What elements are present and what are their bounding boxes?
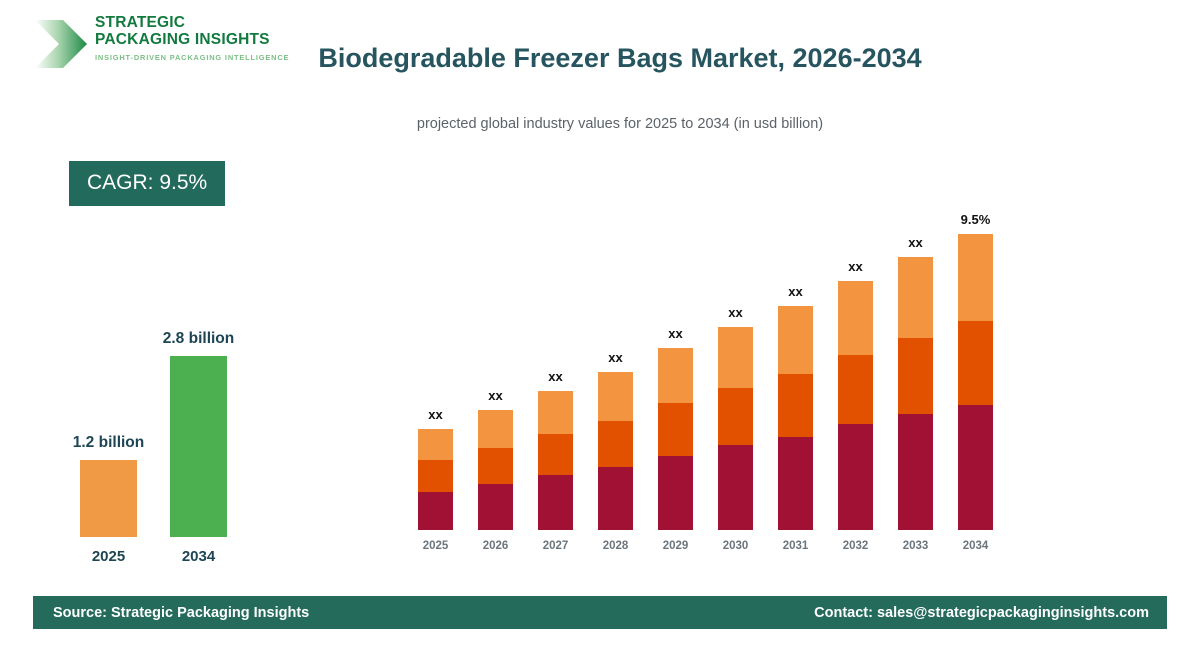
stacked-segment-segment-1-2032 [838, 424, 873, 530]
yearly-stacked-projection-chart: xx2025xx2026xx2027xx2028xx2029xx2030xx20… [408, 195, 1008, 555]
stacked-bar-2027: xx2027 [538, 391, 573, 530]
bar-2025: 1.2 billion2025 [80, 460, 137, 537]
stacked-segment-segment-3-2026 [478, 410, 513, 448]
stacked-segment-segment-1-2028 [598, 467, 633, 530]
stacked-segment-segment-2-2027 [538, 434, 573, 475]
stacked-segment-segment-2-2034 [958, 321, 993, 406]
stacked-segment-segment-3-2031 [778, 306, 813, 374]
stacked-segment-segment-1-2026 [478, 484, 513, 530]
stacked-bar-2030: xx2030 [718, 327, 753, 530]
stacked-bar-top-label-2032: xx [848, 259, 862, 274]
stacked-bar-top-label-2029: xx [668, 326, 682, 341]
page-title: Biodegradable Freezer Bags Market, 2026-… [300, 40, 940, 77]
stacked-bar-year-label-2031: 2031 [783, 540, 809, 552]
stacked-segment-segment-2-2033 [898, 338, 933, 414]
stacked-segment-segment-3-2029 [658, 348, 693, 403]
footer-bar: Source: Strategic Packaging Insights Con… [33, 596, 1167, 629]
footer-source: Source: Strategic Packaging Insights [53, 605, 309, 621]
stacked-segment-segment-3-2033 [898, 257, 933, 337]
stacked-bar-top-label-2033: xx [908, 235, 922, 250]
stacked-segment-segment-3-2027 [538, 391, 573, 434]
stacked-segment-segment-1-2030 [718, 445, 753, 530]
stacked-segment-segment-1-2033 [898, 414, 933, 530]
stacked-bar-top-label-2027: xx [548, 369, 562, 384]
stacked-bar-2031: xx2031 [778, 306, 813, 530]
stacked-bar-2032: xx2032 [838, 281, 873, 530]
brand-logo: STRATEGIC PACKAGING INSIGHTS INSIGHT-DRI… [33, 14, 263, 76]
stacked-segment-segment-1-2029 [658, 456, 693, 530]
stacked-bar-top-label-2026: xx [488, 388, 502, 403]
stacked-bar-top-label-2034: 9.5% [961, 212, 991, 227]
brand-tagline: INSIGHT-DRIVEN PACKAGING INTELLIGENCE [95, 53, 289, 62]
stacked-bar-2025: xx2025 [418, 429, 453, 530]
stacked-bar-year-label-2026: 2026 [483, 540, 509, 552]
stacked-bar-2026: xx2026 [478, 410, 513, 530]
brand-name-line1: STRATEGIC [95, 14, 289, 31]
stacked-segment-segment-3-2034 [958, 234, 993, 321]
stacked-bar-2034: 9.5%2034 [958, 234, 993, 530]
endpoint-comparison-chart: 1.2 billion20252.8 billion2034 [40, 300, 300, 570]
stacked-bar-top-label-2025: xx [428, 407, 442, 422]
stacked-segment-segment-2-2025 [418, 460, 453, 492]
footer-contact: Contact: sales@strategicpackaginginsight… [814, 605, 1149, 621]
stacked-bar-top-label-2030: xx [728, 305, 742, 320]
stacked-segment-segment-1-2034 [958, 405, 993, 530]
stacked-segment-segment-1-2027 [538, 475, 573, 530]
brand-logo-text: STRATEGIC PACKAGING INSIGHTS INSIGHT-DRI… [95, 14, 289, 62]
green-chevron-icon [33, 18, 89, 70]
stacked-bar-year-label-2030: 2030 [723, 540, 749, 552]
stacked-bar-top-label-2028: xx [608, 350, 622, 365]
stacked-segment-segment-3-2032 [838, 281, 873, 355]
bar-rect-2034 [170, 356, 227, 537]
stacked-segment-segment-3-2025 [418, 429, 453, 461]
page-subtitle: projected global industry values for 202… [300, 116, 940, 132]
infographic-page: STRATEGIC PACKAGING INSIGHTS INSIGHT-DRI… [0, 0, 1200, 650]
stacked-segment-segment-1-2025 [418, 492, 453, 530]
bar-rect-2025 [80, 460, 137, 537]
bar-value-label-2034: 2.8 billion [163, 330, 234, 348]
bar-year-label-2025: 2025 [92, 548, 125, 565]
brand-name-line2: PACKAGING INSIGHTS [95, 31, 289, 48]
stacked-segment-segment-3-2028 [598, 372, 633, 422]
stacked-bar-year-label-2033: 2033 [903, 540, 929, 552]
cagr-badge: CAGR: 9.5% [69, 161, 225, 206]
bar-2034: 2.8 billion2034 [170, 356, 227, 537]
stacked-segment-segment-2-2026 [478, 448, 513, 484]
stacked-segment-segment-3-2030 [718, 327, 753, 388]
bar-year-label-2034: 2034 [182, 548, 215, 565]
stacked-bar-year-label-2034: 2034 [963, 540, 989, 552]
stacked-bar-2029: xx2029 [658, 348, 693, 530]
stacked-segment-segment-2-2032 [838, 355, 873, 425]
bar-value-label-2025: 1.2 billion [73, 434, 144, 452]
stacked-bar-year-label-2027: 2027 [543, 540, 569, 552]
stacked-bar-year-label-2025: 2025 [423, 540, 449, 552]
stacked-bar-2033: xx2033 [898, 257, 933, 530]
stacked-segment-segment-2-2029 [658, 403, 693, 456]
stacked-bar-top-label-2031: xx [788, 284, 802, 299]
stacked-segment-segment-2-2030 [718, 388, 753, 445]
stacked-segment-segment-2-2028 [598, 421, 633, 466]
stacked-bar-year-label-2028: 2028 [603, 540, 629, 552]
stacked-bar-year-label-2029: 2029 [663, 540, 689, 552]
stacked-segment-segment-1-2031 [778, 437, 813, 530]
stacked-bar-2028: xx2028 [598, 372, 633, 531]
stacked-bar-year-label-2032: 2032 [843, 540, 869, 552]
stacked-segment-segment-2-2031 [778, 374, 813, 437]
